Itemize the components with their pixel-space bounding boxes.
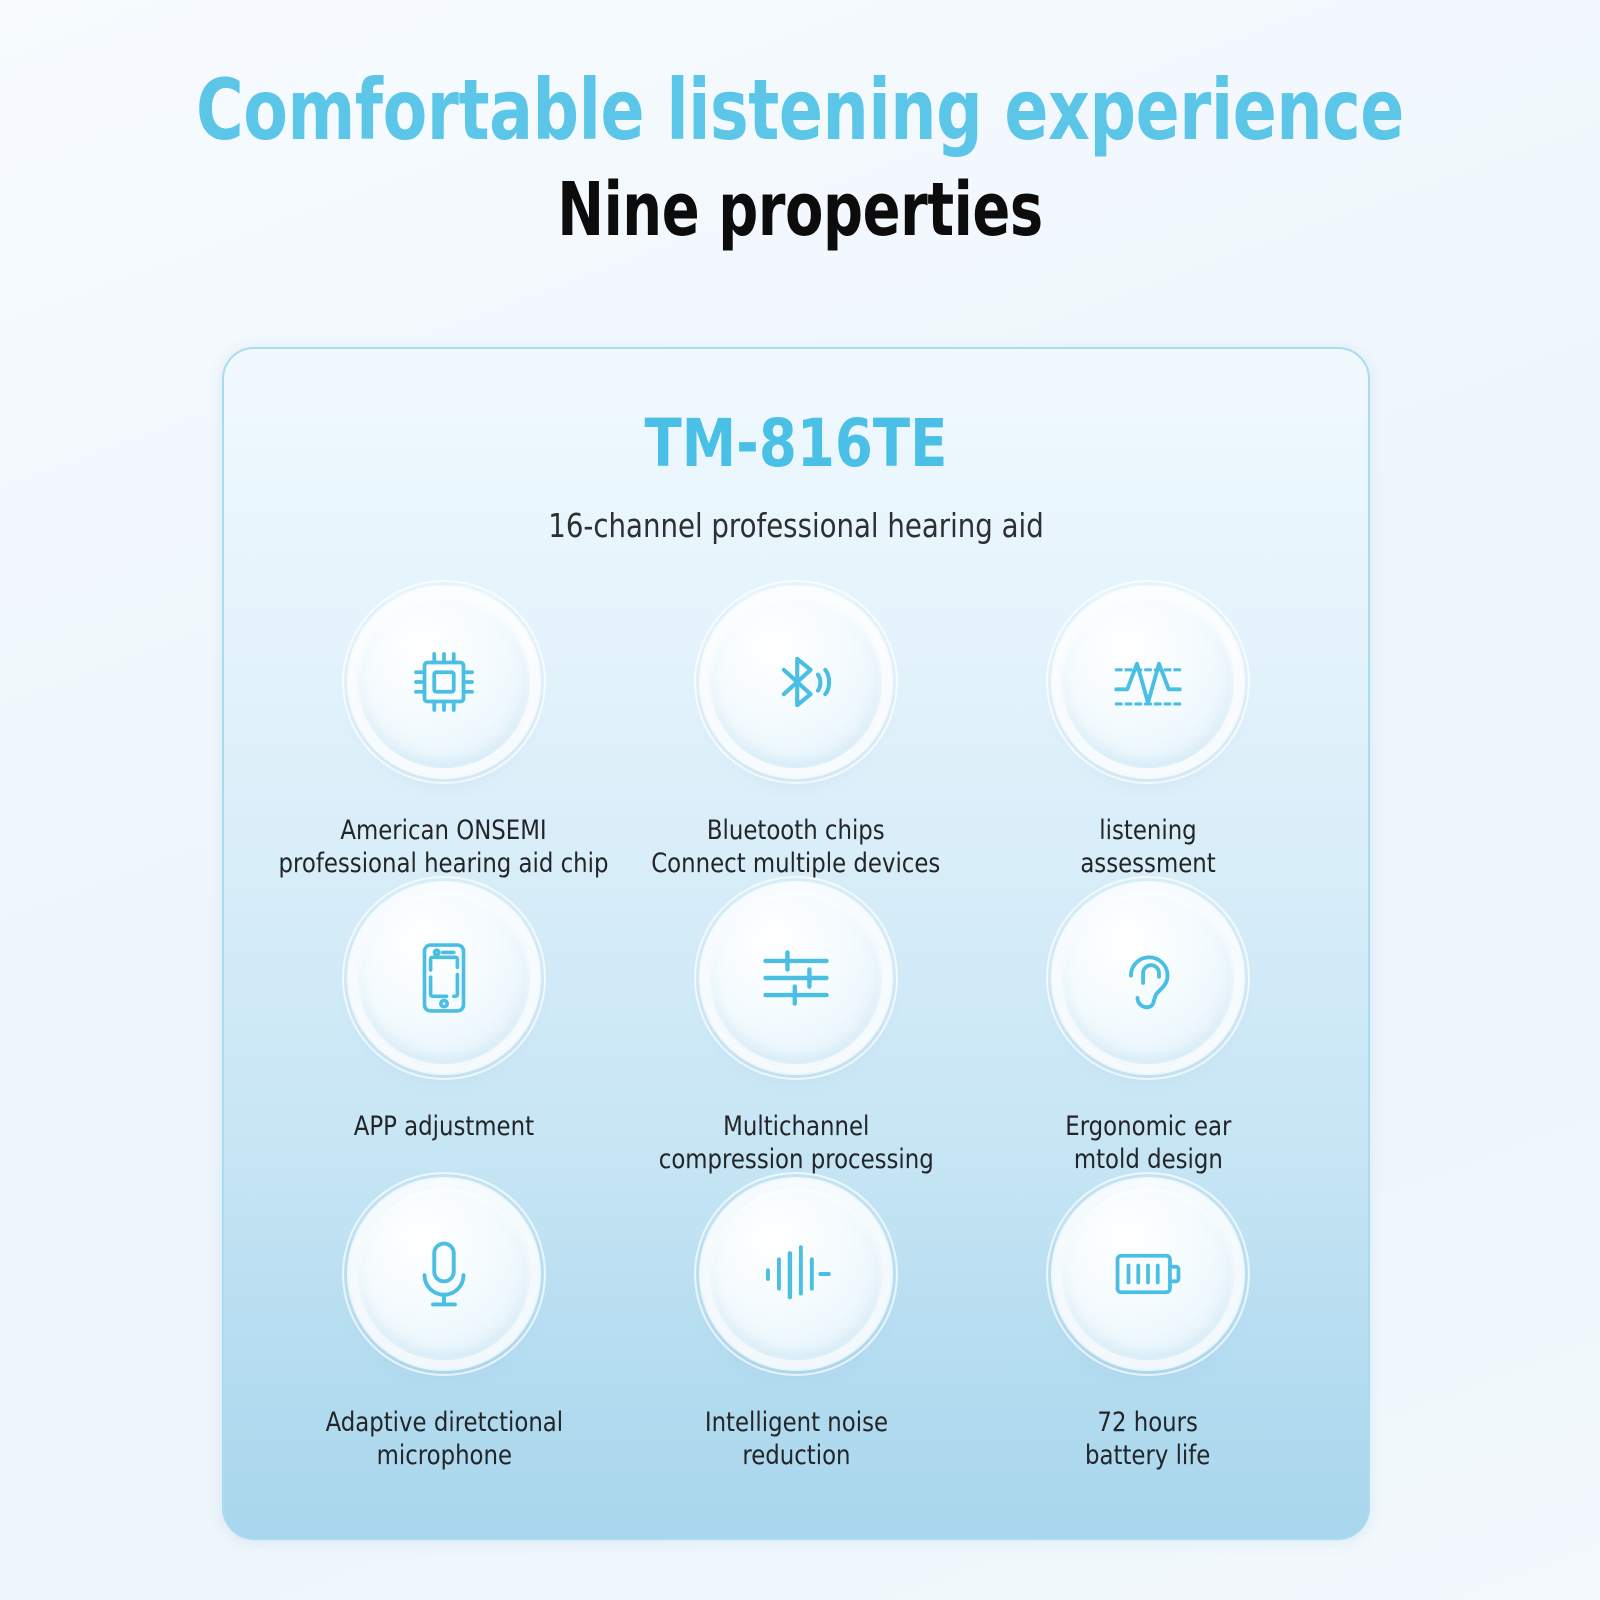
feature-caption: Adaptive diretctional microphone bbox=[325, 1406, 563, 1473]
feature-caption: APP adjustment bbox=[354, 1110, 534, 1143]
feature-item: American ONSEMI professional hearing aid… bbox=[268, 596, 620, 892]
feature-item: listening assessment bbox=[972, 596, 1324, 892]
feature-icon-badge bbox=[358, 892, 530, 1064]
feature-caption: American ONSEMI professional hearing aid… bbox=[279, 814, 609, 881]
product-subtitle: 16-channel professional hearing aid bbox=[264, 509, 1328, 542]
microphone-icon bbox=[405, 1235, 483, 1313]
feature-icon-badge bbox=[1062, 1188, 1234, 1360]
chip-icon bbox=[405, 643, 483, 721]
feature-item: Bluetooth chips Connect multiple devices bbox=[620, 596, 972, 892]
sliders-icon bbox=[757, 939, 835, 1017]
feature-caption: Intelligent noise reduction bbox=[704, 1406, 887, 1473]
feature-icon-badge bbox=[358, 1188, 530, 1360]
feature-caption: Multichannel compression processing bbox=[659, 1110, 934, 1177]
feature-icon-badge bbox=[1062, 892, 1234, 1064]
feature-item: Intelligent noise reduction bbox=[620, 1188, 972, 1484]
header-block: Comfortable listening experience Nine pr… bbox=[0, 66, 1600, 252]
feature-grid: American ONSEMI professional hearing aid… bbox=[224, 596, 1368, 1484]
page-headline: Comfortable listening experience bbox=[112, 66, 1488, 155]
sound-bars-icon bbox=[757, 1235, 835, 1313]
page-subheadline: Nine properties bbox=[128, 169, 1472, 252]
infographic-page: Comfortable listening experience Nine pr… bbox=[0, 0, 1600, 1600]
bluetooth-icon bbox=[757, 643, 835, 721]
waveform-audiogram-icon bbox=[1109, 643, 1187, 721]
feature-item: Ergonomic ear mtold design bbox=[972, 892, 1324, 1188]
feature-item: Multichannel compression processing bbox=[620, 892, 972, 1188]
feature-item: APP adjustment bbox=[268, 892, 620, 1188]
feature-icon-badge bbox=[1062, 596, 1234, 768]
product-model-title: TM-816TE bbox=[270, 411, 1322, 477]
feature-item: Adaptive diretctional microphone bbox=[268, 1188, 620, 1484]
feature-icon-badge bbox=[710, 892, 882, 1064]
ear-icon bbox=[1109, 939, 1187, 1017]
feature-item: 72 hours battery life bbox=[972, 1188, 1324, 1484]
feature-icon-badge bbox=[358, 596, 530, 768]
product-card: TM-816TE 16-channel professional hearing… bbox=[222, 347, 1370, 1540]
feature-caption: Bluetooth chips Connect multiple devices bbox=[651, 814, 940, 881]
feature-caption: Ergonomic ear mtold design bbox=[1065, 1110, 1231, 1177]
feature-caption: listening assessment bbox=[1080, 814, 1215, 881]
smartphone-icon bbox=[405, 939, 483, 1017]
feature-icon-badge bbox=[710, 596, 882, 768]
feature-caption: 72 hours battery life bbox=[1085, 1406, 1210, 1473]
feature-icon-badge bbox=[710, 1188, 882, 1360]
battery-icon bbox=[1109, 1235, 1187, 1313]
